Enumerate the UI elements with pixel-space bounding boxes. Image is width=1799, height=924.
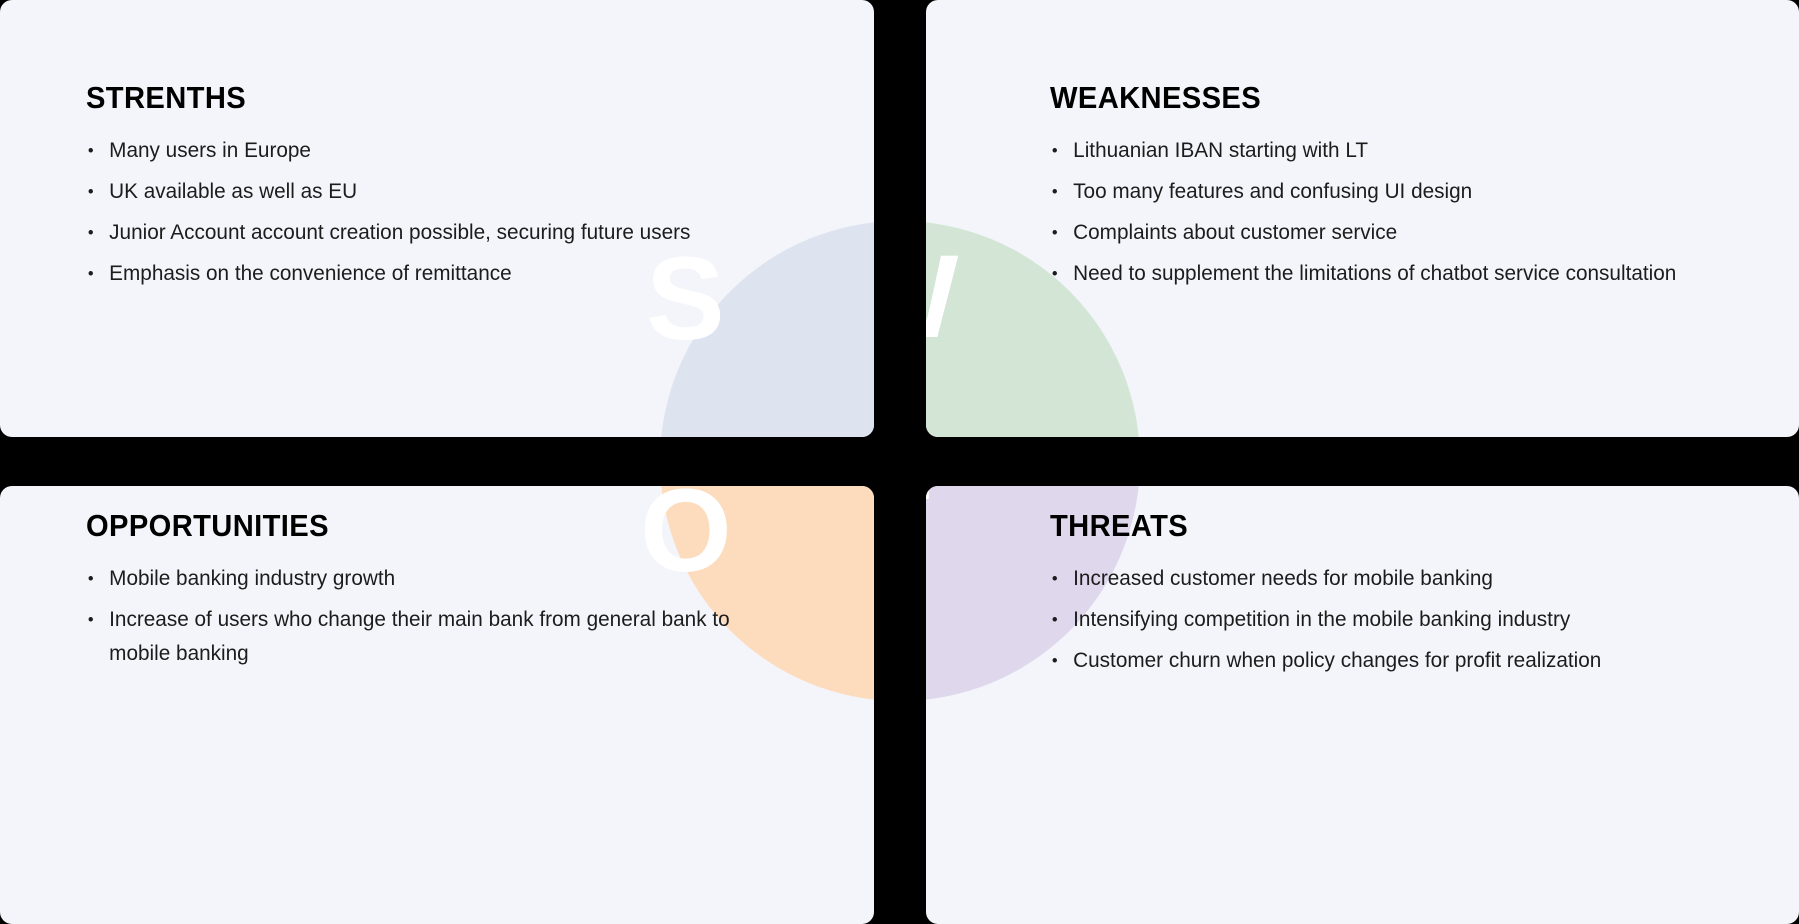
list-item: Lithuanian IBAN starting with LT bbox=[1050, 134, 1726, 168]
swot-quadrant-opportunities[interactable]: O OPPORTUNITIES Mobile banking industry … bbox=[0, 486, 874, 924]
weaknesses-letter-watermark: W bbox=[926, 238, 958, 356]
threats-content: THREATS Increased customer needs for mob… bbox=[1050, 508, 1750, 685]
list-item: Increased customer needs for mobile bank… bbox=[1050, 562, 1726, 596]
strengths-bullet-list: Many users in Europe UK available as wel… bbox=[86, 134, 786, 291]
swot-quadrant-threats[interactable]: T THREATS Increased customer needs for m… bbox=[926, 486, 1799, 924]
list-item: Need to supplement the limitations of ch… bbox=[1050, 257, 1726, 291]
list-item: Customer churn when policy changes for p… bbox=[1050, 644, 1726, 678]
opportunities-content: OPPORTUNITIES Mobile banking industry gr… bbox=[86, 508, 786, 678]
weaknesses-content: WEAKNESSES Lithuanian IBAN starting with… bbox=[1050, 80, 1750, 298]
list-item: Too many features and confusing UI desig… bbox=[1050, 175, 1726, 209]
swot-quadrant-weaknesses[interactable]: W WEAKNESSES Lithuanian IBAN starting wi… bbox=[926, 0, 1799, 437]
opportunities-bullet-list: Mobile banking industry growth Increase … bbox=[86, 562, 786, 671]
list-item: Intensifying competition in the mobile b… bbox=[1050, 603, 1726, 637]
list-item: UK available as well as EU bbox=[86, 175, 762, 209]
threats-letter-watermark: T bbox=[926, 486, 930, 586]
weaknesses-bullet-list: Lithuanian IBAN starting with LT Too man… bbox=[1050, 134, 1750, 291]
opportunities-title: OPPORTUNITIES bbox=[86, 508, 744, 544]
list-item: Mobile banking industry growth bbox=[86, 562, 762, 596]
weaknesses-title: WEAKNESSES bbox=[1050, 80, 1708, 116]
strengths-content: STRENTHS Many users in Europe UK availab… bbox=[86, 80, 786, 298]
swot-quadrant-strengths[interactable]: S STRENTHS Many users in Europe UK avail… bbox=[0, 0, 874, 437]
threats-title: THREATS bbox=[1050, 508, 1708, 544]
swot-matrix: S STRENTHS Many users in Europe UK avail… bbox=[0, 0, 1799, 924]
list-item: Junior Account account creation possible… bbox=[86, 216, 762, 250]
list-item: Emphasis on the convenience of remittanc… bbox=[86, 257, 762, 291]
list-item: Complaints about customer service bbox=[1050, 216, 1726, 250]
list-item: Increase of users who change their main … bbox=[86, 603, 762, 671]
strengths-title: STRENTHS bbox=[86, 80, 744, 116]
threats-bullet-list: Increased customer needs for mobile bank… bbox=[1050, 562, 1750, 678]
list-item: Many users in Europe bbox=[86, 134, 762, 168]
